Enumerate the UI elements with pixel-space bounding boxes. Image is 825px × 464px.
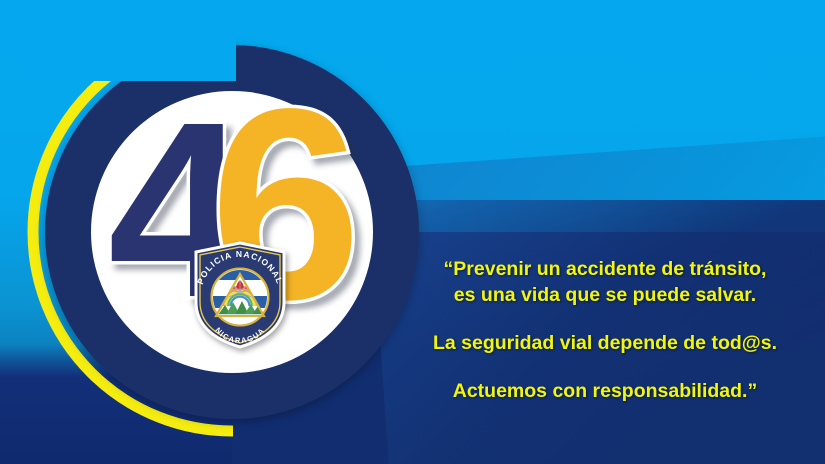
policia-nacional-badge: POLICIA NACIONAL NICARAGUA <box>185 240 295 350</box>
road-safety-quote: “Prevenir un accidente de tránsito, es u… <box>395 256 815 404</box>
quote-line-1: “Prevenir un accidente de tránsito, <box>395 256 815 282</box>
quote-line-4: Actuemos con responsabilidad.” <box>395 378 815 404</box>
quote-line-2: es una vida que se puede salvar. <box>395 282 815 308</box>
quote-spacer-1 <box>395 308 815 330</box>
quote-line-3: La seguridad vial depende de tod@s. <box>395 330 815 356</box>
quote-spacer-2 <box>395 356 815 378</box>
poster-canvas: 4 4 6 6 <box>0 0 825 464</box>
